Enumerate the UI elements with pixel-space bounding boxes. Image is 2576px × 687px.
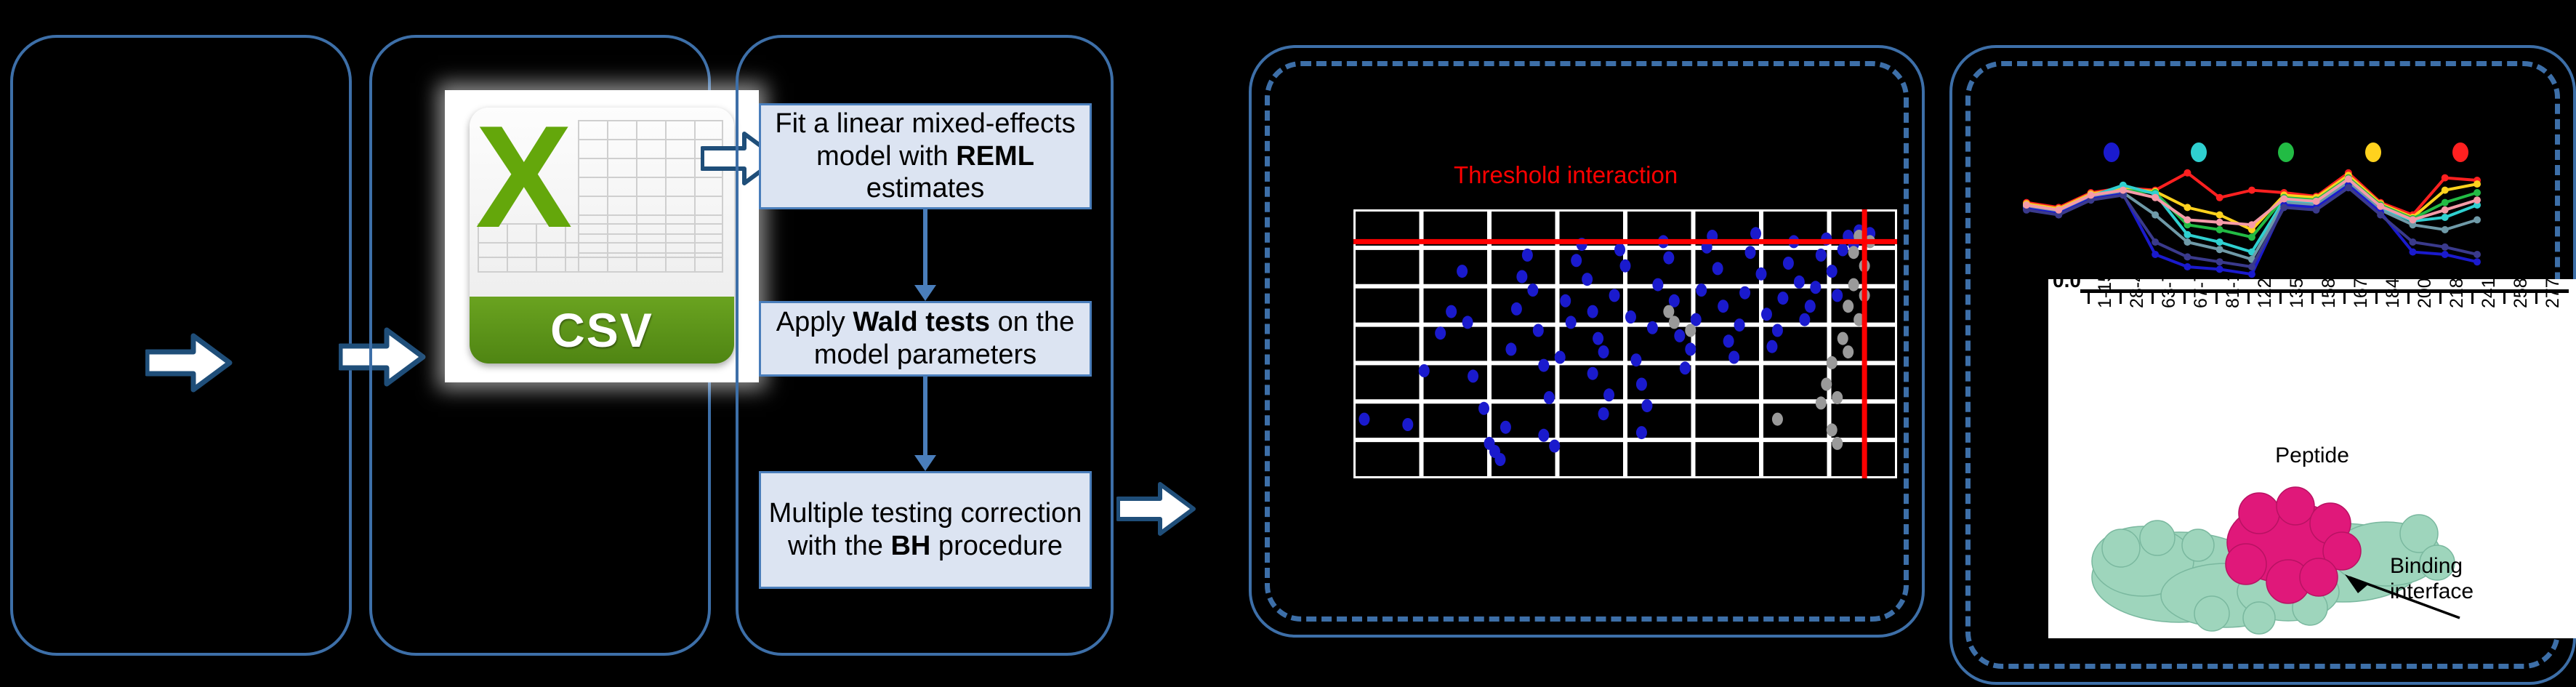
peptide-label: 277-284 (2543, 279, 2564, 308)
x-tick (2471, 293, 2474, 304)
binding-line-2: interface (2390, 579, 2474, 605)
peptide-label: 218-237 (2447, 279, 2468, 308)
peptide-label: 81-101 (2223, 279, 2244, 308)
x-tick (2183, 293, 2186, 304)
y-axis-zero-tick: 0.0 (2053, 279, 2081, 292)
x-tick (2343, 293, 2346, 304)
x-tick (2311, 293, 2314, 304)
step-box-multiple-testing[interactable]: Multiple testing correction with the BH … (759, 471, 1092, 589)
scatter-plot (1353, 209, 1897, 478)
binding-line-1: Binding (2390, 554, 2474, 579)
x-tick (2279, 293, 2282, 304)
x-tick (2407, 293, 2410, 304)
connector-step2-step3 (923, 377, 927, 457)
peptide-label: 167-180 (2351, 279, 2372, 308)
peptide-label: 67-75 (2191, 279, 2212, 308)
connector-step1-step2 (923, 209, 927, 286)
peptide-label: 122-129 (2255, 279, 2276, 308)
x-axis-title: Peptide (2048, 443, 2576, 468)
arrow-stats-to-scatter (1116, 480, 1196, 538)
step-box-fit-model[interactable]: Fit a linear mixed-effects model with RE… (759, 103, 1092, 209)
x-tick (2503, 293, 2505, 304)
step3-bold: BH (890, 531, 930, 561)
peptide-label: 1-15 (2095, 279, 2116, 308)
step2-text-before: Apply (776, 307, 853, 337)
x-tick (2088, 293, 2090, 304)
data-stage-panel (10, 35, 352, 656)
x-tick (2375, 293, 2378, 304)
binding-interface-annotation: Binding interface (2390, 554, 2474, 604)
workflow-diagram: X CSV Fit a linear mixed-effects model w… (0, 0, 2576, 687)
step3-text-after: procedure (930, 531, 1063, 561)
x-tick (2535, 293, 2537, 304)
x-tick (2152, 293, 2154, 304)
x-tick (2247, 293, 2250, 304)
csv-label: CSV (550, 302, 653, 358)
peptide-label: 158-166 (2319, 279, 2340, 308)
peptide-label: 184-199 (2383, 279, 2404, 308)
peptide-label: 63-73 (2159, 279, 2180, 308)
result-figure-card: 0.0 1-1528-4463-7367-7581-101122-129135-… (2048, 279, 2576, 638)
peptide-label: 200-214 (2415, 279, 2436, 308)
peptide-line-chart (1995, 142, 2503, 285)
peptide-label: 135-144 (2287, 279, 2308, 308)
x-tick (2120, 293, 2122, 304)
x-tick (2215, 293, 2218, 304)
step1-text-after: estimates (866, 173, 985, 204)
csv-letter-x: X (475, 108, 572, 250)
csv-icon-body: X CSV (470, 108, 734, 363)
x-tick (2439, 293, 2442, 304)
step1-bold: REML (956, 141, 1034, 172)
peptide-label: 258-266 (2511, 279, 2532, 308)
threshold-interaction-label: Threshold interaction (1454, 161, 1678, 189)
peptide-label: 241-257 (2479, 279, 2500, 308)
peptide-label: 28-44 (2127, 279, 2148, 308)
step2-bold: Wald tests (853, 307, 990, 337)
step-box-wald-tests[interactable]: Apply Wald tests on the model parameters (759, 301, 1092, 377)
csv-label-band: CSV (470, 297, 734, 363)
